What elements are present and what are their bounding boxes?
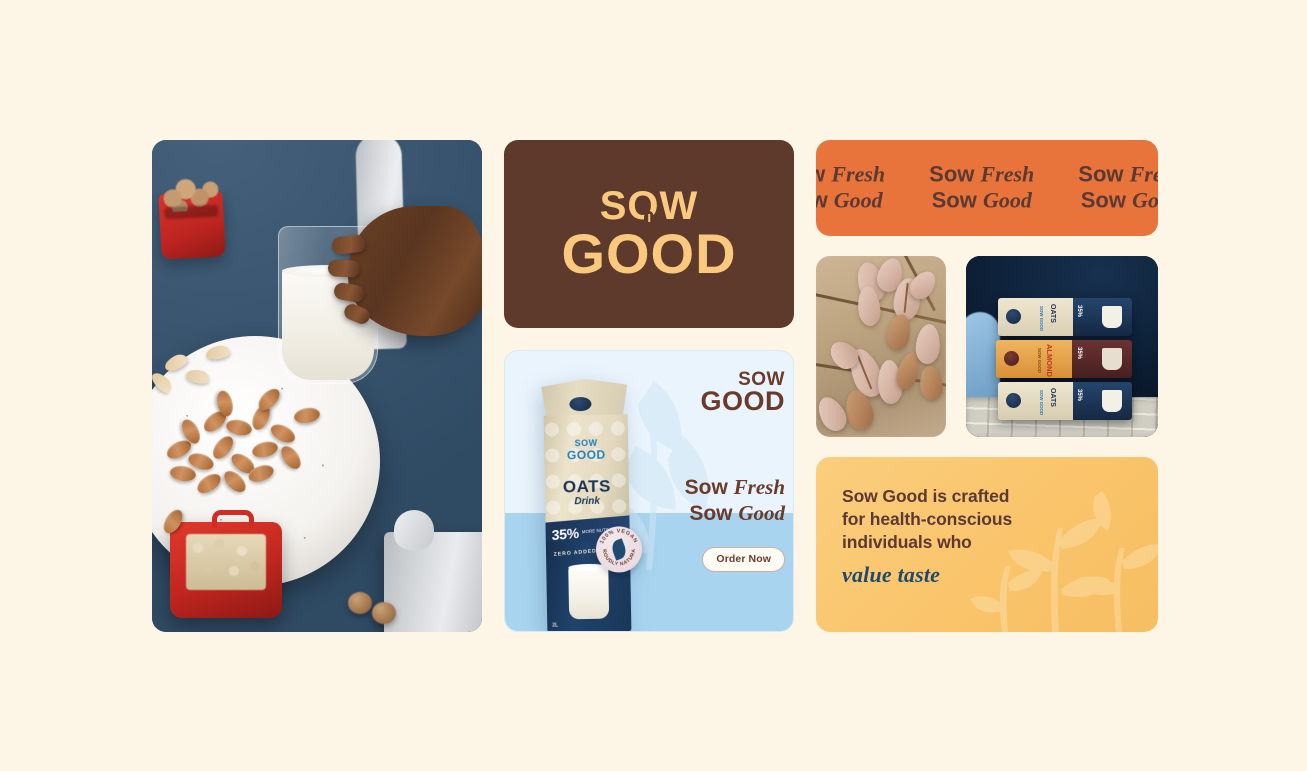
marquee-sow: Sow <box>816 162 831 187</box>
moodboard-column-right: Sow Fresh Sow Good Sow Fresh Sow Good So… <box>816 140 1158 632</box>
marquee-track: Sow Fresh Sow Good Sow Fresh Sow Good So… <box>816 162 1158 215</box>
marquee-sow: Sow <box>932 188 983 213</box>
marquee-fresh: Fresh <box>831 162 885 187</box>
ad-tagline-sow-2: Sow <box>689 502 738 525</box>
stack-pack-almond-mid: ALMOND SOW GOOD 35% <box>996 340 1132 378</box>
order-now-button[interactable]: Order Now <box>702 547 785 572</box>
photo-pair-row: OATS SOW GOOD 35% ALMOND SOW GOOD 35% <box>816 256 1158 437</box>
statement-line-3: individuals who <box>842 531 1132 554</box>
sprout-seed-icon <box>723 382 729 390</box>
marquee-good: Good <box>1132 188 1158 213</box>
ad-tagline-sow-1: Sow <box>685 476 734 499</box>
marquee-unit: Sow Fresh Sow Good <box>1078 162 1158 215</box>
carton-volume: 2L <box>552 623 558 629</box>
moodboard: SOW GOOD <box>152 140 1156 632</box>
ad-logo-good: GOOD <box>655 389 785 414</box>
carton-upper-panel: SOW GOOD OATS Drink <box>544 414 630 523</box>
brand-statement-text: Sow Good is crafted for health-conscious… <box>842 485 1132 554</box>
moodboard-column-middle: SOW GOOD <box>504 140 794 632</box>
hero-hazelnut <box>348 592 372 614</box>
ad-text-block: SOW GOOD Sow Fresh Sow Good Order Now <box>655 371 785 414</box>
statement-line-2: for health-conscious <box>842 508 1132 531</box>
marquee-sow: Sow <box>1078 162 1129 187</box>
ad-tagline: Sow Fresh Sow Good <box>655 475 785 526</box>
ad-tagline-fresh: Fresh <box>734 475 785 499</box>
moodboard-column-left <box>152 140 482 632</box>
stack-pack-oats-bottom: OATS SOW GOOD 35% <box>998 382 1132 420</box>
marquee-sow: Sow <box>816 188 834 213</box>
marquee-good: Good <box>983 188 1032 213</box>
product-ad-card[interactable]: SOW GOOD OATS Drink 35% MORE NUTS ZERO A… <box>504 350 794 632</box>
stack-blue-prop <box>966 312 1000 398</box>
brand-logo-lockup: SOW GOOD <box>561 187 736 280</box>
carton-product-name: OATS Drink <box>545 476 630 507</box>
carton-glass-illustration <box>568 567 609 620</box>
ad-brand-logo: SOW GOOD <box>655 371 785 414</box>
hero-hazelnut <box>372 602 396 624</box>
marquee-unit: Sow Fresh Sow Good <box>929 162 1034 215</box>
brand-logo-card[interactable]: SOW GOOD <box>504 140 794 328</box>
hero-lifestyle-photo[interactable] <box>152 140 482 632</box>
ad-logo-sow: SOW <box>738 371 785 388</box>
marquee-sow: Sow <box>1081 188 1132 213</box>
hero-dish-handle <box>212 510 254 528</box>
statement-accent-phrase: value taste <box>842 562 1132 588</box>
tagline-marquee-card[interactable]: Sow Fresh Sow Good Sow Fresh Sow Good So… <box>816 140 1158 236</box>
marquee-sow: Sow <box>929 162 980 187</box>
hero-grey-carton <box>384 532 482 632</box>
carton-subtitle: Drink <box>545 495 629 507</box>
stack-pack-oats-top: OATS SOW GOOD 35% <box>998 298 1132 336</box>
carton-stack-photo[interactable]: OATS SOW GOOD 35% ALMOND SOW GOOD 35% <box>966 256 1158 437</box>
hero-hand <box>348 206 482 336</box>
statement-line-1: Sow Good is crafted <box>842 485 1132 508</box>
ad-tagline-good: Good <box>738 501 785 525</box>
ad-product-carton: SOW GOOD OATS Drink 35% MORE NUTS ZERO A… <box>541 378 631 609</box>
carton-brand-mark: SOW GOOD <box>544 438 628 461</box>
carton-brand-good: GOOD <box>544 448 628 461</box>
marquee-unit: Sow Fresh Sow Good <box>816 162 885 215</box>
marquee-fresh: Fresh <box>1130 162 1158 187</box>
hero-almond-pile <box>152 380 342 510</box>
hero-red-oats-dish <box>170 522 282 618</box>
brand-statement-card[interactable]: Sow Good is crafted for health-conscious… <box>816 457 1158 632</box>
marquee-fresh: Fresh <box>980 162 1034 187</box>
sprout-seed-icon <box>644 211 654 225</box>
hero-red-nut-bowl <box>158 190 225 259</box>
brand-logo-good: GOOD <box>561 227 736 280</box>
almond-branch-photo[interactable] <box>816 256 946 437</box>
marquee-good: Good <box>834 188 883 213</box>
vegan-badge: 100% VEGAN PROUDLY NATURAL <box>596 526 643 573</box>
